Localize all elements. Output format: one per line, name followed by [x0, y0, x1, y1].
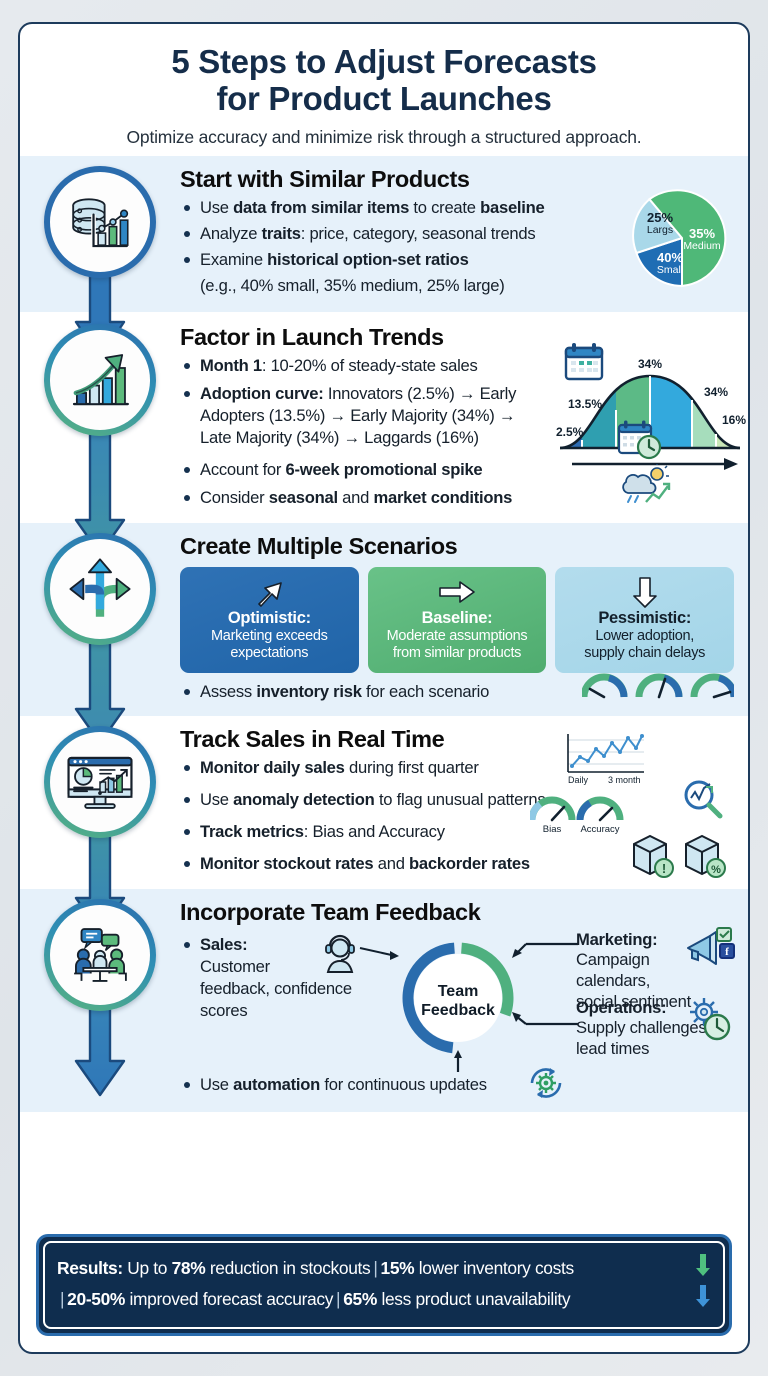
arrow-right-icon — [375, 575, 540, 609]
step-factor-in-launch-trends: Factor in Launch Trends Month 1: 10-20% … — [20, 312, 748, 522]
step-4-content: Track Sales in Real Time Monitor daily s… — [180, 726, 748, 879]
svg-text:2.5%: 2.5% — [556, 425, 584, 439]
svg-text:Accuracy: Accuracy — [580, 824, 619, 834]
step-2-icon-column — [20, 324, 180, 436]
team-feedback-ring: Team Feedback — [398, 930, 518, 1077]
source-desc-3: scores — [180, 1000, 365, 1022]
svg-text:Small: Small — [657, 264, 683, 276]
scenario-name: Optimistic: — [187, 609, 352, 628]
list-item: Month 1: 10-20% of steady-state sales — [180, 355, 525, 377]
step-start-with-similar-products: Start with Similar Products Use data fro… — [20, 156, 748, 313]
source-name: Sales: — [200, 935, 247, 954]
scenario-desc-2: from similar products — [375, 645, 540, 662]
steps-list: Start with Similar Products Use data fro… — [20, 156, 748, 1112]
list-item: Use automation for continuous updates — [180, 1074, 734, 1096]
svg-text:34%: 34% — [638, 357, 662, 371]
three-way-arrows-icon — [44, 533, 156, 645]
gear-clock-icon — [684, 994, 732, 1047]
svg-text:35%: 35% — [689, 226, 715, 241]
option-set-pie-chart: 25% Largs 35% Medium 40% Small — [630, 186, 734, 295]
scenario-card-pessimistic[interactable]: Pessimistic: Lower adoption, supply chai… — [555, 567, 734, 673]
arrow-down-icon — [562, 575, 727, 609]
step-1-content: Start with Similar Products Use data fro… — [180, 166, 748, 301]
scenario-cards: Optimistic: Marketing exceeds expectatio… — [180, 567, 734, 673]
team-meeting-icon — [44, 899, 156, 1011]
operations-arrow — [508, 1008, 580, 1035]
scenario-card-optimistic[interactable]: Optimistic: Marketing exceeds expectatio… — [180, 567, 359, 673]
step-3-title: Create Multiple Scenarios — [180, 533, 734, 560]
scenario-desc-1: Moderate assumptions — [375, 628, 540, 645]
scenario-desc-2: expectations — [187, 645, 352, 662]
marketing-arrow — [508, 940, 580, 967]
database-bar-chart-icon — [44, 166, 156, 278]
separator: | — [370, 1258, 380, 1278]
page-subtitle: Optimize accuracy and minimize risk thro… — [44, 127, 724, 148]
step-2-title: Factor in Launch Trends — [180, 324, 734, 351]
automation-gear-icon — [528, 1065, 564, 1106]
svg-text:Medium: Medium — [683, 240, 721, 252]
scenario-name: Pessimistic: — [562, 609, 727, 628]
page-title: 5 Steps to Adjust Forecasts for Product … — [44, 44, 724, 118]
weather-market-icon — [618, 464, 672, 509]
results-label: Results: — [57, 1258, 123, 1278]
step-5-bullets: Use automation for continuous updates — [180, 1074, 734, 1096]
results-inner: Results: Up to 78% reduction in stockout… — [43, 1241, 725, 1329]
infographic-card: 5 Steps to Adjust Forecasts for Product … — [18, 22, 750, 1354]
calendar-clock-icon — [616, 418, 664, 467]
results-metric-1: Up to 78% reduction in stockouts — [127, 1258, 370, 1278]
svg-text:Bias: Bias — [543, 824, 562, 834]
megaphone-icon: f — [684, 926, 736, 977]
scenario-desc-2: supply chain delays — [562, 645, 727, 662]
svg-text:40%: 40% — [657, 250, 683, 265]
list-item: Adoption curve: Innovators (2.5%) → Earl… — [180, 383, 525, 449]
svg-text:16%: 16% — [722, 413, 746, 427]
step-5-icon-column — [20, 899, 180, 1011]
results-metric-4: 65% less product unavailability — [343, 1289, 570, 1309]
connector-arrow-5 — [73, 1003, 127, 1099]
svg-text:Daily: Daily — [568, 775, 589, 785]
step-2-content: Factor in Launch Trends Month 1: 10-20% … — [180, 324, 748, 512]
step-4-icon-column — [20, 726, 180, 838]
hub-line-2: Feedback — [421, 1002, 495, 1019]
separator: | — [57, 1289, 67, 1309]
step-4-title: Track Sales in Real Time — [180, 726, 734, 753]
header: 5 Steps to Adjust Forecasts for Product … — [20, 24, 748, 156]
scenario-desc-1: Lower adoption, — [562, 628, 727, 645]
scenario-desc-1: Marketing exceeds — [187, 628, 352, 645]
step-incorporate-team-feedback: Incorporate Team Feedback Sales: Custome… — [20, 889, 748, 1112]
results-metric-2: 15% lower inventory costs — [381, 1258, 574, 1278]
svg-text:13.5%: 13.5% — [568, 397, 602, 411]
svg-text:%: % — [711, 864, 721, 876]
svg-text:3 month: 3 month — [608, 775, 641, 785]
svg-text:34%: 34% — [704, 385, 728, 399]
monitor-dashboard-icon — [44, 726, 156, 838]
bias-accuracy-gauges: Bias Accuracy — [530, 792, 626, 839]
svg-text:f: f — [725, 946, 729, 958]
list-item: Use anomaly detection to flag unusual pa… — [180, 789, 734, 811]
infographic-page: 5 Steps to Adjust Forecasts for Product … — [0, 0, 768, 1376]
list-item: Monitor daily sales during first quarter — [180, 757, 734, 779]
arrow-down-blue-icon — [695, 1284, 711, 1315]
growth-bar-chart-arrow-icon — [44, 324, 156, 436]
step-3-icon-column — [20, 533, 180, 645]
title-line-1: 5 Steps to Adjust Forecasts — [44, 44, 724, 81]
step-1-icon-column — [20, 166, 180, 278]
results-line-2: |20-50% improved forecast accuracy|65% l… — [57, 1284, 711, 1315]
step-track-sales-in-real-time: Track Sales in Real Time Monitor daily s… — [20, 716, 748, 889]
results-line-1: Results: Up to 78% reduction in stockout… — [57, 1253, 711, 1284]
svg-text:Largs: Largs — [647, 224, 673, 236]
results-banner: Results: Up to 78% reduction in stockout… — [36, 1234, 732, 1336]
step-5-content: Incorporate Team Feedback Sales: Custome… — [180, 899, 748, 1100]
hub-line-1: Team — [438, 983, 479, 1000]
separator: | — [333, 1289, 343, 1309]
title-line-2: for Product Launches — [44, 81, 724, 118]
step-create-multiple-scenarios: Create Multiple Scenarios Optimistic: Ma… — [20, 523, 748, 717]
step-5-title: Incorporate Team Feedback — [180, 899, 734, 926]
arrow-down-green-icon — [695, 1253, 711, 1284]
arrow-up-right-icon — [187, 575, 352, 609]
scenario-card-baseline[interactable]: Baseline: Moderate assumptions from simi… — [368, 567, 547, 673]
stockout-boxes-icon: ! % — [630, 828, 734, 885]
daily-sales-line-chart: Daily 3 month — [562, 730, 648, 791]
svg-text:!: ! — [662, 861, 666, 876]
scenario-name: Baseline: — [375, 609, 540, 628]
results-metric-3: 20-50% improved forecast accuracy — [67, 1289, 333, 1309]
step-3-content: Create Multiple Scenarios Optimistic: Ma… — [180, 533, 748, 707]
risk-gauges — [582, 669, 734, 708]
anomaly-magnifier-icon — [682, 778, 724, 825]
svg-text:25%: 25% — [647, 210, 673, 225]
